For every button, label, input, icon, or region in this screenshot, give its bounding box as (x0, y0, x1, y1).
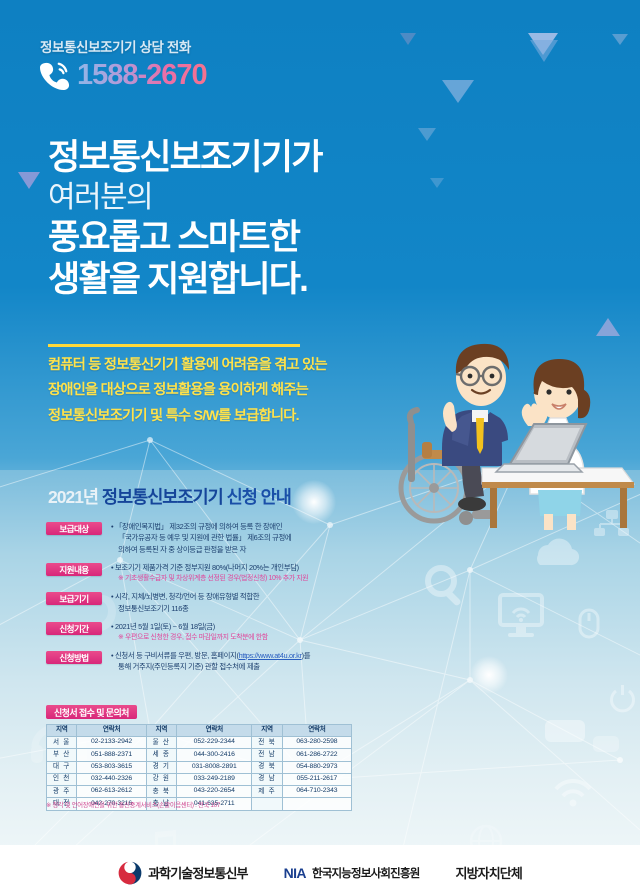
lead-line-2: 장애인을 대상으로 정보활용을 용이하게 해주는 (48, 380, 408, 401)
table-cell-region: 세 종 (146, 749, 176, 761)
table-cell-region: 광 주 (47, 786, 77, 798)
nia-mark: NIA (284, 865, 306, 881)
table-cell-region: 전 남 (252, 749, 282, 761)
triangle-decor-6 (442, 80, 474, 103)
logo-local-government: 지방자치단체 (456, 863, 522, 882)
table-cell-phone: 032-440-2326 (77, 773, 146, 785)
info-rows: 보급대상 • 「장애인복지법」 제32조의 규정에 의하여 등록 한 장애인 「… (46, 521, 346, 680)
table-cell-phone: 031-8008-2891 (177, 761, 252, 773)
table-cell-region: 경 기 (146, 761, 176, 773)
consult-label: 정보통신보조기기 상담 전화 (40, 36, 207, 56)
table-row: 대 구053-803-3615경 기031-8008-2891경 북054-88… (47, 761, 352, 773)
footer-logos: 과학기술정보통신부 NIA 한국지능정보사회진흥원 지방자치단체 (0, 852, 640, 893)
table-row: 인 천032-440-2326강 원033-249-2189경 남055-211… (47, 773, 352, 785)
table-cell-phone: 051-888-2371 (77, 749, 146, 761)
headline-line-1: 정보통신보조기기가 (48, 138, 468, 179)
triangle-decor-1 (18, 172, 40, 189)
info-row: 지원내용 • 보조기기 제품가격 기준 정부지원 80%(나머지 20%는 개인… (46, 562, 346, 584)
section-suffix: 신청 안내 (227, 487, 291, 507)
col-header-region: 지역 (47, 725, 77, 737)
triangle-decor-5 (612, 34, 628, 45)
table-row: 서 울02-2133-2942울 산052-229-2344전 북063-280… (47, 737, 352, 749)
info-line: 정보통신보조기기 116종 (111, 603, 346, 614)
cloud-icon (537, 539, 579, 566)
info-line: • 「장애인복지법」 제32조의 규정에 의하여 등록 한 장애인 (111, 521, 346, 532)
headline-divider (48, 344, 300, 347)
info-badge-support: 지원내용 (46, 563, 102, 576)
table-cell-region: 전 북 (252, 737, 282, 749)
headline-line-2: 여러분의 (48, 179, 468, 217)
col-header-phone: 연락처 (77, 725, 146, 737)
table-cell-region (252, 798, 282, 810)
table-cell-region: 강 원 (146, 773, 176, 785)
table-cell-region: 인 천 (47, 773, 77, 785)
table-cell-phone: 033-249-2189 (177, 773, 252, 785)
glow-dot-2 (470, 656, 508, 694)
info-line: • 2021년 5월 1일(토) ~ 6월 18일(금) (111, 621, 346, 632)
illustration-wheelchair-user-and-helper (386, 330, 636, 530)
table-cell-phone: 063-280-2598 (282, 737, 351, 749)
table-cell-phone: 061-286-2722 (282, 749, 351, 761)
lead-paragraph: 컴퓨터 등 정보통신기기 활용에 어려움을 겪고 있는 장애인을 대상으로 정보… (48, 355, 408, 431)
table-cell-phone: 043-220-2654 (177, 786, 252, 798)
table-cell-region: 충 북 (146, 786, 176, 798)
header-contact: 정보통신보조기기 상담 전화 1588-2670 (40, 36, 207, 90)
mouse-icon (580, 610, 598, 637)
table-cell-region: 대 구 (47, 761, 77, 773)
homepage-link[interactable]: https://www.at4u.or.kr (239, 651, 302, 660)
table-row: 부 산051-888-2371세 종044-300-2416전 남061-286… (47, 749, 352, 761)
info-line: 통해 거주지(주민등록지 기준) 관할 접수처에 제출 (111, 661, 346, 672)
info-line: • 신청서 등 구비서류를 우편, 방문, 홈페이지(https://www.a… (111, 650, 346, 661)
info-badge-period: 신청기간 (46, 622, 102, 635)
lead-line-1: 컴퓨터 등 정보통신기기 활용에 어려움을 겪고 있는 (48, 355, 408, 376)
logo-ministry: 과학기술정보통신부 (118, 861, 248, 885)
table-cell-region: 경 남 (252, 773, 282, 785)
col-header-region: 지역 (146, 725, 176, 737)
table-cell-region: 제 주 (252, 786, 282, 798)
table-cell-region: 울 산 (146, 737, 176, 749)
contact-table-title: 신청서 접수 및 문의처 (46, 705, 137, 719)
info-badge-devices: 보급기기 (46, 592, 102, 605)
headline-line-4: 생활을 지원합니다. (48, 259, 468, 301)
wifi-icon (556, 781, 590, 807)
power-icon (612, 685, 634, 711)
table-cell-phone: 053-803-3615 (77, 761, 146, 773)
section-title: 2021년 정보통신보조기기 신청 안내 (48, 484, 291, 509)
search-icon (428, 568, 462, 607)
table-cell-phone: 052-229-2344 (177, 737, 252, 749)
table-cell-phone: 064-710-2343 (282, 786, 351, 798)
info-line: 「국가유공자 등 예우 및 지원에 관한 법률」 제6조의 규정에 (111, 532, 346, 543)
col-header-phone: 연락처 (282, 725, 351, 737)
info-badge-target: 보급대상 (46, 522, 102, 535)
taegeuk-icon (118, 861, 142, 885)
info-row: 보급기기 • 시각, 지체/뇌병변, 청각/언어 등 장애유형별 적합한 정보통… (46, 591, 346, 614)
section-keyword: 정보통신보조기기 (102, 487, 223, 507)
info-row: 보급대상 • 「장애인복지법」 제32조의 규정에 의하여 등록 한 장애인 「… (46, 521, 346, 555)
table-cell-phone: 054-880-2973 (282, 761, 351, 773)
info-subnote: ※ 우편으로 신청한 경우, 접수 마감일까지 도착분에 한함 (111, 633, 346, 643)
table-cell-phone: 062-613-2612 (77, 786, 146, 798)
info-badge-method: 신청방법 (46, 651, 102, 664)
phone-ring-icon (40, 60, 70, 90)
col-header-phone: 연락처 (177, 725, 252, 737)
chat-bubble-icon (545, 720, 619, 752)
info-row: 신청방법 • 신청서 등 구비서류를 우편, 방문, 홈페이지(https://… (46, 650, 346, 673)
info-line: 의하여 등록된 자 중 상이등급 판정을 받은 자 (111, 544, 346, 555)
nia-name: 한국지능정보사회진흥원 (312, 865, 420, 881)
table-cell-phone: 044-300-2416 (177, 749, 252, 761)
table-cell-region: 경 북 (252, 761, 282, 773)
table-cell-region: 서 울 (47, 737, 77, 749)
table-cell-phone: 055-211-2617 (282, 773, 351, 785)
col-header-region: 지역 (252, 725, 282, 737)
poster-root: 정보통신보조기기 상담 전화 1588-2670 정보통신보조기기가 여러분의 … (0, 0, 640, 893)
table-cell-phone: 02-2133-2942 (77, 737, 146, 749)
headline-block: 정보통신보조기기가 여러분의 풍요롭고 스마트한 생활을 지원합니다. (48, 138, 468, 301)
logo-nia: NIA 한국지능정보사회진흥원 (284, 865, 420, 881)
info-line: • 보조기기 제품가격 기준 정부지원 80%(나머지 20%는 개인부담) (111, 562, 346, 573)
info-line: • 시각, 지체/뇌병변, 청각/언어 등 장애유형별 적합한 (111, 591, 346, 602)
lead-line-3: 정보통신보조기기 및 특수 S/W를 보급합니다. (48, 406, 408, 427)
info-subnote: ※ 기초생활수급자 및 차상위계층 선정된 경우(법정신청) 10% 추가 지원 (111, 574, 346, 584)
table-row: 광 주062-613-2612충 북043-220-2654제 주064-710… (47, 786, 352, 798)
table-cell-region: 부 산 (47, 749, 77, 761)
contact-table: 지역 연락처 지역 연락처 지역 연락처 서 울02-2133-2942울 산0… (46, 724, 352, 811)
consult-phone-number: 1588-2670 (77, 61, 207, 90)
table-footnote: ※ 청각 및 언어장애인을 위한 통신중계서비스(손말이음센터) : 전국 10… (46, 800, 220, 809)
section-year: 2021년 (48, 487, 98, 507)
table-cell-phone (282, 798, 351, 810)
triangle-decor-2 (400, 33, 416, 45)
ministry-name: 과학기술정보통신부 (148, 863, 248, 882)
headline-line-3: 풍요롭고 스마트한 (48, 217, 468, 259)
glow-dot-1 (292, 480, 336, 524)
table-header-row: 지역 연락처 지역 연락처 지역 연락처 (47, 725, 352, 737)
monitor-wifi-icon (500, 595, 542, 637)
local-government-name: 지방자치단체 (456, 863, 522, 882)
info-row: 신청기간 • 2021년 5월 1일(토) ~ 6월 18일(금) ※ 우편으로… (46, 621, 346, 643)
triangle-decor-4 (530, 40, 558, 62)
